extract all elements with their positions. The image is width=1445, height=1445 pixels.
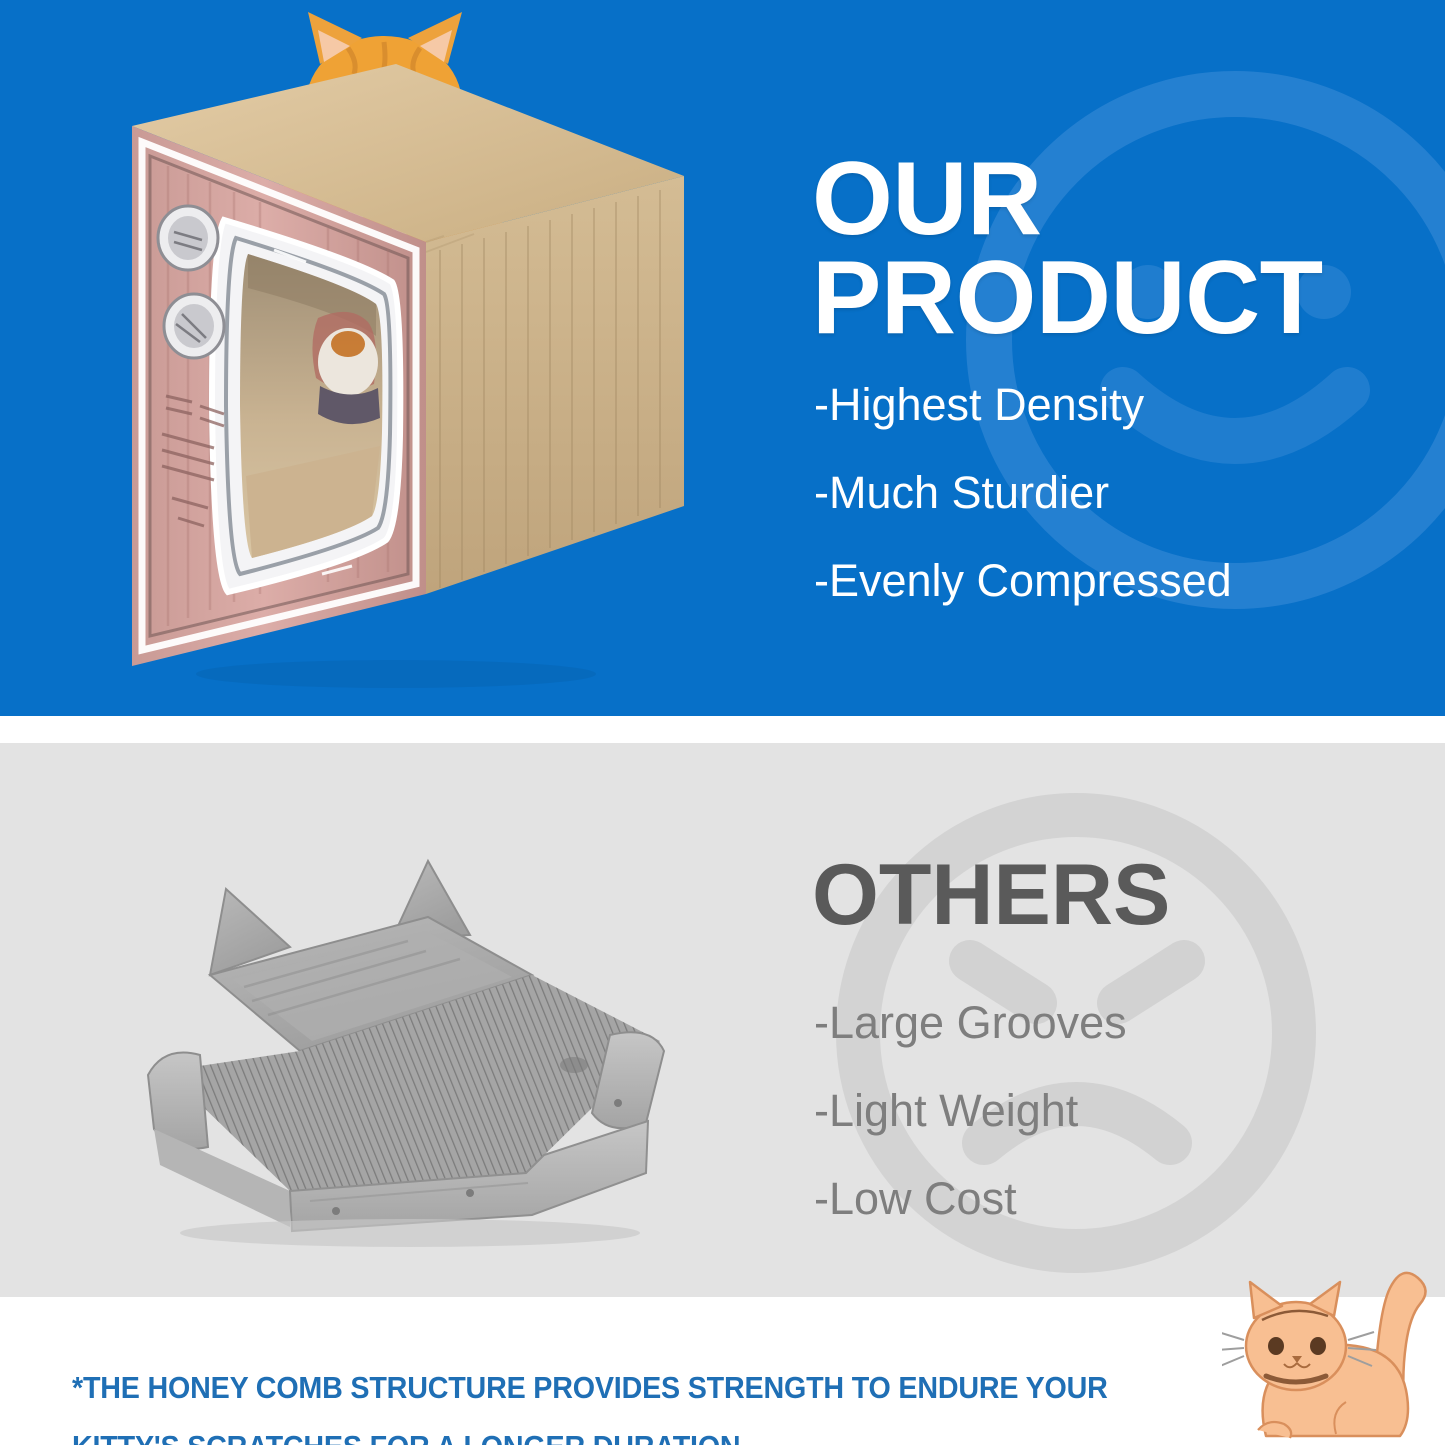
others-panel: OTHERS -Large Grooves -Light Weight -Low… xyxy=(0,743,1445,1297)
plush-cat-inside xyxy=(312,312,380,424)
list-item: -Large Grooves xyxy=(814,1000,1127,1045)
others-image-gray-scratcher xyxy=(140,855,700,1255)
list-item: -Highest Density xyxy=(814,382,1232,427)
list-item: -Evenly Compressed xyxy=(814,558,1232,603)
list-item: -Low Cost xyxy=(814,1176,1127,1221)
list-item: -Much Sturdier xyxy=(814,470,1232,515)
tv-knob-upper xyxy=(158,206,218,270)
page-title-our-product: OUR PRODUCT xyxy=(812,150,1323,348)
cartoon-cat-mascot-icon xyxy=(1222,1248,1440,1443)
page-title-others: OTHERS xyxy=(812,855,1170,937)
footnote-text: *THE HONEY COMB STRUCTURE PROVIDES STREN… xyxy=(72,1359,1134,1445)
product-image-tv-scratcher xyxy=(96,6,696,706)
list-item: -Light Weight xyxy=(814,1088,1127,1133)
product-feature-list: -Highest Density -Much Sturdier -Evenly … xyxy=(814,382,1232,646)
tv-knob-lower xyxy=(164,294,224,358)
our-product-panel: OUR PRODUCT -Highest Density -Much Sturd… xyxy=(0,0,1445,716)
others-feature-list: -Large Grooves -Light Weight -Low Cost xyxy=(814,1000,1127,1264)
product-comparison-infographic: OUR PRODUCT -Highest Density -Much Sturd… xyxy=(0,0,1445,1445)
